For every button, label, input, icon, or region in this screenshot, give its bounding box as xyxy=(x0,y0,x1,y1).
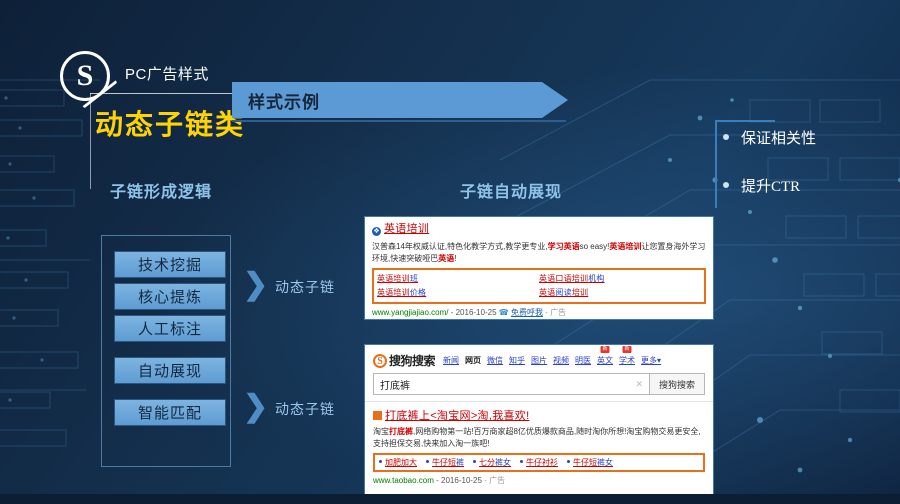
serp1-url-row: www.yangjiajiao.com/ - 2016-10-25 ☎ 免费呼我… xyxy=(372,307,706,319)
sogou-nav-english[interactable]: 新英文 xyxy=(597,355,613,366)
serp1-sublink-box: 英语培训班 英语口语培训机构 英语培训价格 英语阅读培训 xyxy=(372,268,706,304)
section-banner-underline xyxy=(232,120,566,122)
serp2-title-highlight: 打底裤 xyxy=(385,410,419,422)
section-banner-arrow xyxy=(542,82,568,118)
bullet-dot-icon xyxy=(723,182,729,188)
serp2-title-row: 打底裤上<淘宝网>淘,我喜欢! xyxy=(373,407,705,423)
serp2-title-rest: 上<淘宝网>淘,我喜欢! xyxy=(419,410,530,422)
serp2-description: 淘宝打底裤,网络购物第一站!百万商家超8亿优质爆款商品,随时淘你所想!淘宝购物交… xyxy=(373,426,705,450)
sublink-tail: 裤女 xyxy=(597,458,613,467)
serp1-url: www.yangjiajiao.com/ xyxy=(372,308,448,317)
serp2-sublink-0[interactable]: 加肥加大 xyxy=(379,457,417,468)
serp1-ad-label: 广告 xyxy=(550,308,566,317)
sublink-head: 牛仔短 xyxy=(432,458,456,467)
benefits-rail xyxy=(715,120,717,208)
sogou-topbar: S 搜狗搜索 新闻 网页 微信 知乎 图片 视频 明医 新英文 新学术 更多▾ xyxy=(365,345,713,371)
chevron-right-icon: ❯ xyxy=(243,270,268,300)
chevron-down-icon: ▾ xyxy=(657,356,661,365)
sublink-tail: 裤 xyxy=(456,458,464,467)
serp1-sublink-1[interactable]: 英语口语培训机构 xyxy=(539,272,701,286)
sublink-head: 英语培训 xyxy=(377,288,410,297)
brand-logo-slash xyxy=(59,50,118,109)
serp1-sublink-2[interactable]: 英语培训价格 xyxy=(377,286,539,300)
serp1-title-row: ❖英语培训 xyxy=(372,222,706,238)
bullet-dot-icon xyxy=(473,460,476,463)
serp2-sublink-4[interactable]: 牛仔短裤女 xyxy=(567,457,613,468)
flow-label-1: 动态子链 xyxy=(275,399,335,419)
benefits-list: 保证相关性 提升CTR xyxy=(715,120,890,202)
favicon-icon xyxy=(373,411,382,420)
sogou-nav-more[interactable]: 更多▾ xyxy=(641,355,661,366)
serp1-desc-part: 汉普森14年权威认证,特色化教学方式,教学更专业, xyxy=(372,242,548,251)
serp2-title-link[interactable]: 打底裤上<淘宝网>淘,我喜欢! xyxy=(385,410,529,422)
bullet-dot-icon xyxy=(426,460,429,463)
sublink-head: 牛仔衬衫 xyxy=(526,458,558,467)
sublink-tail: 机构 xyxy=(588,274,604,283)
nav-label: 英文 xyxy=(597,356,613,365)
search-input[interactable]: 打底裤 ✕ xyxy=(373,373,649,395)
serp2-ad-label: 广告 xyxy=(489,476,505,485)
serp1-sublink-0[interactable]: 英语培训班 xyxy=(377,272,539,286)
section-banner: 样式示例 xyxy=(232,82,542,118)
chevron-right-icon: ❯ xyxy=(243,392,268,422)
search-input-value: 打底裤 xyxy=(380,377,410,392)
sublink-head: 英语培训 xyxy=(377,274,410,283)
header-vertical-rule xyxy=(90,93,91,189)
serp-example-card-2: 打底裤上<淘宝网>淘,我喜欢! 淘宝打底裤,网络购物第一站!百万商家超8亿优质爆… xyxy=(365,402,713,486)
serp2-desc-part: ,网络购物第一站!百万商家超8亿优质爆款商品,随时淘你所想!淘宝购物交易更安全,… xyxy=(373,427,701,448)
sogou-nav-academic[interactable]: 新学术 xyxy=(619,355,635,366)
pipeline-panel: 技术挖掘 核心提炼 人工标注 自动展现 智能匹配 xyxy=(101,235,231,467)
sogou-nav-zhihu[interactable]: 知乎 xyxy=(509,355,525,366)
serp2-desc-highlight: 打底裤 xyxy=(389,427,413,436)
benefit-item-1: 提升CTR xyxy=(723,168,890,202)
serp2-sublink-box: 加肥加大 牛仔短裤 七分裤女 牛仔衬衫 牛仔短裤女 xyxy=(373,453,705,472)
header-divider xyxy=(90,93,245,94)
pipeline-step-0[interactable]: 技术挖掘 xyxy=(114,251,226,278)
search-button[interactable]: 搜狗搜索 xyxy=(649,373,705,395)
page-title: 动态子链类 xyxy=(95,103,245,143)
sublink-head: 牛仔短 xyxy=(573,458,597,467)
serp2-date: 2016-10-25 xyxy=(441,476,482,485)
serp-example-card-1: ❖英语培训 汉普森14年权威认证,特色化教学方式,教学更专业,学习英语so ea… xyxy=(364,216,714,320)
sublink-tail: 裤女 xyxy=(495,458,511,467)
middle-column-heading: 子链自动展现 xyxy=(460,178,562,202)
slide-canvas: S PC广告样式 动态子链类 样式示例 保证相关性 提升CTR 子链形成逻辑 子… xyxy=(0,0,900,504)
pipeline-step-2[interactable]: 人工标注 xyxy=(114,315,226,342)
sogou-search-row: 打底裤 ✕ 搜狗搜索 xyxy=(365,371,713,395)
sublink-tail2: 培训 xyxy=(572,288,588,297)
clear-icon[interactable]: ✕ xyxy=(635,379,643,390)
benefit-item-0: 保证相关性 xyxy=(723,120,890,154)
serp1-desc-highlight: 英语培训 xyxy=(609,242,641,251)
bullet-dot-icon xyxy=(723,134,729,140)
left-column-heading: 子链形成逻辑 xyxy=(110,178,212,202)
sublink-tail: 阅读 xyxy=(555,288,571,297)
sublink-head: 七分 xyxy=(479,458,495,467)
sublink-tail: 价格 xyxy=(410,288,426,297)
serp2-url: www.taobao.com xyxy=(373,476,434,485)
sogou-logo-icon: S xyxy=(373,354,387,368)
serp1-desc-part: so easy! xyxy=(580,242,610,251)
sogou-nav-web[interactable]: 网页 xyxy=(465,355,481,366)
ad-badge-icon: ❖ xyxy=(372,227,381,236)
pipeline-step-4[interactable]: 智能匹配 xyxy=(114,399,226,426)
sogou-nav-news[interactable]: 新闻 xyxy=(443,355,459,366)
sogou-brand: 搜狗搜索 xyxy=(389,352,435,369)
sublink-head: 英语口语培训 xyxy=(539,274,588,283)
sogou-nav-doctor[interactable]: 明医 xyxy=(575,355,591,366)
bullet-dot-icon xyxy=(520,460,523,463)
header-kicker: PC广告样式 xyxy=(125,63,209,84)
sublink-head: 英语 xyxy=(539,288,555,297)
new-badge: 新 xyxy=(601,346,610,353)
serp1-description: 汉普森14年权威认证,特色化教学方式,教学更专业,学习英语so easy!英语培… xyxy=(372,241,706,265)
sogou-nav-images[interactable]: 图片 xyxy=(531,355,547,366)
serp1-desc-highlight: 英语 xyxy=(438,254,454,263)
sublink-head: 加肥加大 xyxy=(385,458,417,467)
serp1-sublink-3[interactable]: 英语阅读培训 xyxy=(539,286,701,300)
bullet-dot-icon xyxy=(379,460,382,463)
serp1-title-link[interactable]: 英语培训 xyxy=(384,223,429,235)
sogou-nav: 新闻 网页 微信 知乎 图片 视频 明医 新英文 新学术 更多▾ xyxy=(443,355,661,366)
serp2-sublink-3[interactable]: 牛仔衬衫 xyxy=(520,457,558,468)
pipeline-step-1[interactable]: 核心提炼 xyxy=(114,283,226,310)
sublink-tail: 班 xyxy=(410,274,418,283)
pipeline-step-3[interactable]: 自动展现 xyxy=(114,357,226,384)
benefit-label: 保证相关性 xyxy=(741,127,816,148)
phone-icon: ☎ xyxy=(499,308,509,317)
serp1-desc-part: ! xyxy=(454,254,456,263)
nav-label: 更多 xyxy=(641,356,657,365)
sogou-search-card: S 搜狗搜索 新闻 网页 微信 知乎 图片 视频 明医 新英文 新学术 更多▾ … xyxy=(364,344,714,496)
serp2-url-row: www.taobao.com - 2016-10-25 - 广告 xyxy=(373,475,705,486)
sogou-nav-wechat[interactable]: 微信 xyxy=(487,355,503,366)
new-badge: 新 xyxy=(623,346,632,353)
nav-label: 学术 xyxy=(619,356,635,365)
flow-label-0: 动态子链 xyxy=(275,277,335,297)
serp1-call-link[interactable]: 免费呼我 xyxy=(511,308,543,317)
serp2-sublink-2[interactable]: 七分裤女 xyxy=(473,457,511,468)
serp1-desc-highlight: 学习英语 xyxy=(548,242,580,251)
bottom-strip xyxy=(0,494,900,504)
serp1-date: 2016-10-25 xyxy=(456,308,497,317)
sogou-nav-video[interactable]: 视频 xyxy=(553,355,569,366)
benefit-label: 提升CTR xyxy=(741,175,800,196)
bullet-dot-icon xyxy=(567,460,570,463)
serp2-desc-part: 淘宝 xyxy=(373,427,389,436)
serp2-sublink-1[interactable]: 牛仔短裤 xyxy=(426,457,464,468)
